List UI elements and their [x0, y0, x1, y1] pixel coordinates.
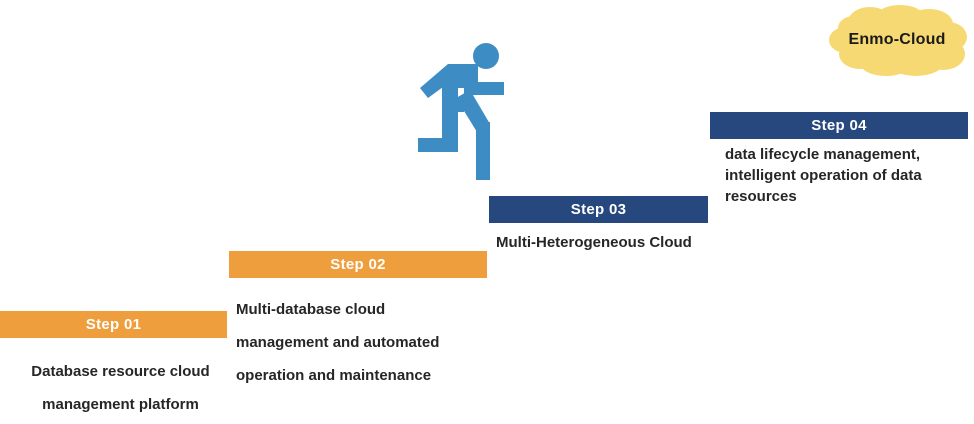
step-bar-02[interactable]: Step 02: [229, 251, 487, 278]
step-description-03: Multi-Heterogeneous Cloud: [496, 232, 746, 254]
step-bar-04[interactable]: Step 04: [710, 112, 968, 139]
step-description-01: Database resource cloud management platf…: [8, 355, 233, 421]
step-bar-03-label: Step 03: [571, 201, 626, 218]
cloud-label: Enmo-Cloud: [824, 4, 970, 76]
enmo-cloud-badge[interactable]: Enmo-Cloud: [824, 4, 970, 76]
step-bar-02-label: Step 02: [330, 256, 385, 273]
running-person-icon: [412, 42, 532, 190]
step-description-04: data lifecycle management, intelligent o…: [725, 144, 973, 207]
infographic-canvas: Enmo-Cloud: [0, 0, 974, 424]
step-bar-04-label: Step 04: [811, 117, 866, 134]
step-bar-01[interactable]: Step 01: [0, 311, 227, 338]
step-bar-01-label: Step 01: [86, 316, 141, 333]
step-bar-03[interactable]: Step 03: [489, 196, 708, 223]
step-description-02: Multi-database cloud management and auto…: [236, 293, 496, 392]
